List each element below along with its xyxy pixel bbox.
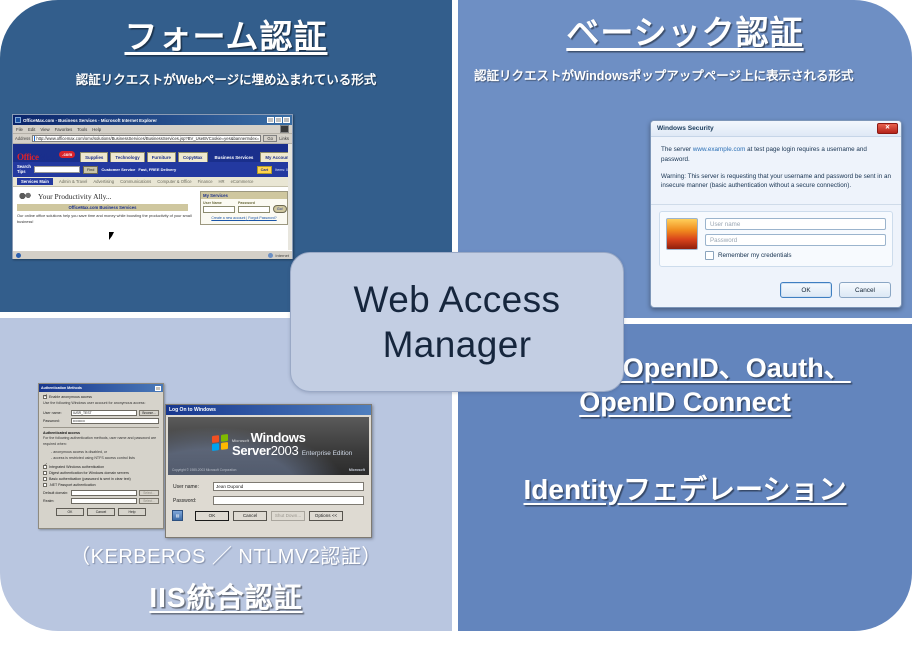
default-domain-input — [71, 490, 137, 496]
people-icon — [17, 191, 35, 202]
marketing-description: Our online office solutions help you sav… — [17, 213, 195, 225]
brand-microsoft: Microsoft — [232, 439, 249, 443]
ie-page-content: OfficeMax .com Supplies Technology Furni… — [13, 144, 292, 250]
address-input[interactable]: http://www.officemax.com/omx/solutions/B… — [32, 135, 261, 142]
close-icon[interactable] — [155, 386, 161, 391]
nav-tab-supplies[interactable]: Supplies — [80, 152, 108, 162]
username-input[interactable]: Jean Dupond — [213, 482, 364, 491]
my-services-login-box: My Services User Name Password Go! — [200, 191, 288, 225]
nav-tab-furniture[interactable]: Furniture — [147, 152, 176, 162]
log-on-to-windows-dialog: Log On to Windows Microsoft Windows Serv… — [165, 404, 372, 538]
logon-form: User name: Jean Dupond Password: — [166, 477, 371, 505]
dialog-titlebar: Log On to Windows — [166, 405, 371, 415]
subnav-services-main[interactable]: Services Main — [17, 178, 53, 185]
forgot-password-link[interactable]: Forgot Password? — [248, 216, 276, 220]
my-services-links: Create a new account | Forgot Password? — [203, 216, 285, 220]
options-button[interactable]: Options << — [309, 511, 343, 521]
password-input[interactable]: •••••••••• — [71, 418, 159, 424]
select-domain-button: Select... — [139, 490, 159, 496]
default-domain-field: Default domain: Select... — [43, 490, 159, 496]
logon-button-row: ▤ OK Cancel Shut Down... Options << — [166, 510, 371, 521]
method-digest-label: Digest authentication for Windows domain… — [49, 471, 129, 475]
officemax-marketing-column: Your Productivity Ally... OfficeMax.com … — [17, 191, 195, 225]
nav-tab-business-services[interactable]: Business Services — [210, 152, 259, 162]
officemax-top-navigation: OfficeMax .com Supplies Technology Furni… — [13, 144, 292, 162]
subnav-computer-office[interactable]: Computer & Office — [157, 179, 191, 184]
promo-customer-service[interactable]: Customer Service — [101, 167, 135, 172]
method-digest-row[interactable]: Digest authentication for Windows domain… — [43, 471, 159, 475]
checkbox-icon[interactable] — [43, 465, 47, 469]
page-scrollbar[interactable] — [288, 144, 292, 250]
checkbox-icon[interactable] — [43, 477, 47, 481]
ok-button[interactable]: OK — [56, 508, 84, 516]
password-field-group: Password — [238, 201, 270, 213]
user-avatar — [666, 218, 698, 250]
authentication-methods-dialog: Authentication Methods Enable anonymous … — [38, 383, 164, 529]
address-value: http://www.officemax.com/omx/solutions/B… — [36, 136, 259, 141]
dialog-title: Windows Security — [657, 125, 714, 132]
subnav-hr[interactable]: HR — [219, 179, 225, 184]
credential-fields: User name Password Remember my credentia… — [705, 218, 886, 260]
minimize-icon[interactable] — [267, 117, 274, 123]
authenticated-access-note: For the following authentication methods… — [43, 436, 159, 448]
cart-button[interactable]: Cart — [257, 166, 273, 174]
realm-label: Realm: — [43, 499, 69, 503]
password-label: Password: — [43, 419, 69, 423]
wam-line-1: Web Access — [354, 277, 561, 322]
menu-favorites[interactable]: Favorites — [55, 127, 73, 132]
subnav-advertising[interactable]: Advertising — [93, 179, 114, 184]
ie-app-icon — [15, 117, 21, 123]
ie-brand-icon — [280, 125, 289, 133]
anonymous-access-note: Use the following Windows user account f… — [43, 401, 159, 407]
username-field-group: User Name — [203, 201, 235, 213]
close-icon[interactable]: ✕ — [877, 123, 898, 134]
officemax-dotcom-badge: .com — [59, 151, 75, 158]
nav-tab-technology[interactable]: Technology — [110, 152, 144, 162]
credentials-panel: User name Password Remember my credentia… — [659, 211, 893, 267]
logon-password-row: Password: — [173, 496, 364, 505]
password-input[interactable]: Password — [705, 234, 886, 246]
web-access-manager-label: Web Access Manager — [354, 277, 561, 367]
subnav-admin-travel[interactable]: Admin & Travel — [59, 179, 87, 184]
brand-edition: Enterprise Edition — [302, 450, 352, 457]
cancel-button[interactable]: Cancel — [233, 511, 267, 521]
dialog-title: Authentication Methods — [41, 386, 82, 390]
windows-server-banner: Microsoft Windows Server2003 Enterprise … — [168, 417, 369, 475]
dialog-titlebar: Windows Security ✕ — [651, 121, 901, 137]
ok-button[interactable]: OK — [780, 282, 832, 298]
close-icon[interactable] — [283, 117, 290, 123]
create-account-link[interactable]: Create a new account — [211, 216, 245, 220]
menu-edit[interactable]: Edit — [28, 127, 35, 132]
microsoft-logo: Microsoft — [349, 468, 365, 472]
quadrant-title-basic-auth: ベーシック認証 — [458, 12, 912, 53]
status-zone-text: Internet — [275, 253, 289, 258]
dialog-titlebar: Authentication Methods — [39, 384, 163, 392]
dialog-buttons: OK Cancel Help — [43, 508, 159, 516]
internet-explorer-window: OfficeMax.com - Business Services - Micr… — [12, 114, 293, 259]
ie-statusbar: Internet — [13, 250, 292, 259]
dialog-body: The server www.example.com at test page … — [651, 137, 901, 202]
search-input[interactable] — [34, 166, 80, 173]
smartcard-icon: ▤ — [172, 510, 183, 521]
quadrant-title-identity-federation: Identityフェデレーション — [458, 472, 912, 507]
username-input[interactable]: IUSR_TEST — [71, 410, 137, 416]
cancel-button[interactable]: Cancel — [839, 282, 891, 298]
ie-titlebar: OfficeMax.com - Business Services - Micr… — [13, 115, 292, 125]
quadrant-subtitle-iis-auth: （KERBEROS ／ NTLMV2認証） — [0, 540, 452, 569]
subnav-communications[interactable]: Communications — [120, 179, 151, 184]
menu-file[interactable]: File — [16, 127, 23, 132]
marketing-headline: Your Productivity Ally... — [38, 192, 112, 201]
diagram-canvas: フォーム認証 認証リクエストがWebページに埋め込まれている形式 ベーシック認証… — [0, 0, 912, 655]
anon-username-field: User name: IUSR_TEST Browse... — [43, 410, 159, 416]
subnav-ecommerce[interactable]: eCommerce — [231, 179, 254, 184]
my-services-fields-row: User Name Password Go! — [203, 201, 285, 213]
dialog-divider — [651, 204, 901, 205]
page-icon — [34, 136, 35, 141]
status-zone-group: Internet — [268, 253, 289, 258]
mouse-cursor-icon — [109, 232, 114, 240]
username-label: User name: — [43, 411, 69, 415]
server-host: www.example.com — [693, 146, 746, 153]
anonymous-access-label: Enable anonymous access — [49, 395, 92, 399]
my-services-title: My Services — [201, 192, 287, 199]
realm-field: Realm: Select... — [43, 498, 159, 504]
username-label: User name: — [173, 484, 209, 490]
search-tips-link[interactable]: Tips — [17, 169, 26, 174]
password-input[interactable] — [238, 206, 270, 213]
password-input[interactable] — [213, 496, 364, 505]
windows-security-dialog: Windows Security ✕ The server www.exampl… — [650, 120, 902, 308]
promo1-title: Customer Service — [101, 167, 135, 172]
maximize-icon[interactable] — [275, 117, 282, 123]
dialog-body: Enable anonymous access Use the followin… — [39, 392, 163, 519]
menu-help[interactable]: Help — [92, 127, 101, 132]
ie-menubar: File Edit View Favorites Tools Help — [13, 125, 292, 134]
username-input[interactable] — [203, 206, 235, 213]
username-label: User Name — [203, 201, 235, 205]
checkbox-icon[interactable] — [43, 395, 47, 399]
authenticated-access-title: Authenticated access — [43, 431, 159, 435]
search-label: Search Tips — [17, 165, 31, 174]
ie-window-controls[interactable] — [267, 117, 290, 123]
message-pre: The server — [661, 146, 693, 153]
brand-server: Server — [232, 443, 271, 458]
internet-zone-icon — [268, 253, 273, 258]
checkbox-icon[interactable] — [705, 251, 714, 260]
officemax-sub-navigation: Services Main Admin & Travel Advertising… — [13, 177, 292, 187]
brand-year: 2003 — [271, 443, 299, 458]
section-divider — [43, 427, 159, 428]
password-label: Password — [238, 201, 270, 205]
realm-input — [71, 498, 137, 504]
find-button[interactable]: Find — [83, 166, 98, 174]
anonymous-access-row[interactable]: Enable anonymous access — [43, 395, 159, 399]
method-passport-label: .NET Passport authentication — [49, 483, 96, 487]
browse-button[interactable]: Browse... — [139, 410, 159, 416]
address-label: Address — [15, 136, 30, 141]
checkbox-icon[interactable] — [43, 483, 47, 487]
quadrant-subtitle-basic-auth: 認証リクエストがWindowsポップアップページ上に表示される形式 — [474, 67, 894, 86]
windows-flag-icon — [212, 434, 228, 451]
go-button[interactable]: Go — [263, 135, 277, 142]
checkbox-icon[interactable] — [43, 471, 47, 475]
password-label: Password: — [173, 498, 209, 504]
web-access-manager-box: Web Access Manager — [290, 252, 624, 392]
quadrant-title-iis-auth: IIS統合認証 — [0, 580, 452, 615]
method-integrated-windows-label: Integrated Windows authentication — [49, 465, 104, 469]
dialog-buttons: OK Cancel Shut Down... Options << — [195, 511, 343, 521]
method-basic-row[interactable]: Basic authentication (password is sent i… — [43, 477, 159, 481]
help-button[interactable]: Help — [118, 508, 146, 516]
dialog-title: Log On to Windows — [169, 407, 216, 413]
menu-view[interactable]: View — [40, 127, 49, 132]
authenticated-bullet-2: - access is restricted using NTFS access… — [43, 456, 159, 462]
promo2-title: Fast, FREE Delivery — [138, 167, 176, 172]
quadrant-subtitle-form-auth: 認証リクエストがWebページに埋め込まれている形式 — [0, 71, 452, 90]
links-label[interactable]: Links — [279, 136, 290, 141]
subnav-finance[interactable]: Finance — [198, 179, 213, 184]
login-go-button[interactable]: Go! — [273, 205, 287, 213]
logon-username-row: User name: Jean Dupond — [173, 482, 364, 491]
brand-product: Windows Server2003 — [232, 430, 306, 458]
dialog-message-primary: The server www.example.com at test page … — [661, 145, 891, 165]
my-services-body: User Name Password Go! Create a new acco… — [201, 199, 287, 222]
business-services-band: OfficeMax.com Business Services — [17, 204, 188, 211]
anon-password-field: Password: •••••••••• — [43, 418, 159, 424]
quadrant-title-form-auth: フォーム認証 — [0, 16, 452, 57]
username-input[interactable]: User name — [705, 218, 886, 230]
nav-tab-copymax[interactable]: CopyMax — [178, 152, 208, 162]
remember-credentials-label: Remember my credentials — [718, 252, 792, 259]
copyright-text: Copyright © 1985-2003 Microsoft Corporat… — [172, 468, 236, 472]
method-integrated-windows-row[interactable]: Integrated Windows authentication — [43, 465, 159, 469]
productivity-ally-block: Your Productivity Ally... — [17, 191, 195, 202]
method-passport-row[interactable]: .NET Passport authentication — [43, 483, 159, 487]
method-basic-label: Basic authentication (password is sent i… — [49, 477, 131, 481]
promo-free-delivery[interactable]: Fast, FREE Delivery — [138, 167, 176, 172]
ie-addressbar: Address http://www.officemax.com/omx/sol… — [13, 134, 292, 144]
ie-window-title: OfficeMax.com - Business Services - Micr… — [23, 118, 157, 123]
dialog-message-warning: Warning: This server is requesting that … — [661, 172, 891, 192]
remember-credentials-row[interactable]: Remember my credentials — [705, 251, 886, 260]
officemax-page-body: Your Productivity Ally... OfficeMax.com … — [13, 187, 292, 229]
dialog-buttons: OK Cancel — [780, 282, 891, 298]
officemax-search-bar: Search Tips Find Customer Service Fast, … — [13, 162, 292, 177]
cancel-button[interactable]: Cancel — [87, 508, 115, 516]
default-domain-label: Default domain: — [43, 491, 69, 495]
cart-summary: Items: 0 — [275, 168, 288, 172]
status-icon — [16, 253, 21, 258]
wam-line-2: Manager — [354, 322, 561, 367]
shutdown-button: Shut Down... — [271, 511, 305, 521]
ok-button[interactable]: OK — [195, 511, 229, 521]
menu-tools[interactable]: Tools — [77, 127, 87, 132]
select-realm-button: Select... — [139, 498, 159, 504]
officemax-logo: OfficeMax — [17, 153, 55, 162]
brand-block: Microsoft Windows Server2003 Enterprise … — [232, 431, 369, 457]
